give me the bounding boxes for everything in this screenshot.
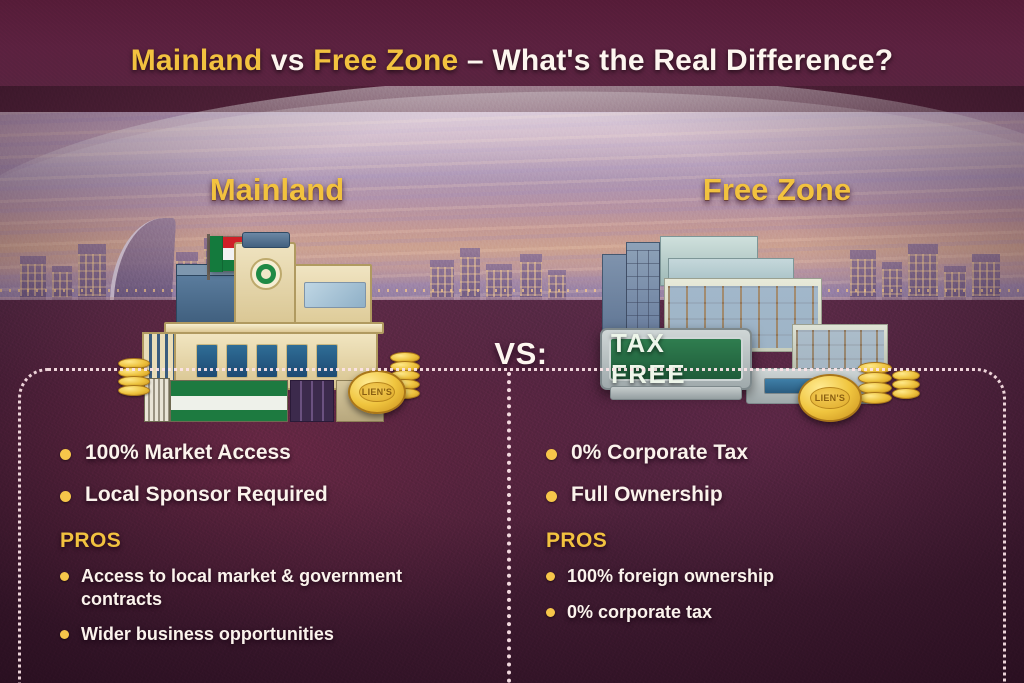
building-back-block	[176, 270, 236, 328]
highlight-text: 100% Market Access	[85, 440, 291, 466]
bullet-dot-icon	[60, 572, 69, 581]
bullet-dot-icon	[546, 491, 557, 502]
pros-heading: PROS	[546, 529, 966, 553]
pros-heading: PROS	[60, 529, 480, 553]
highlight-text: Full Ownership	[571, 482, 723, 508]
column-heading-free-zone: Free Zone	[612, 172, 942, 208]
column-heading-mainland: Mainland	[112, 172, 442, 208]
mainland-column: 100% Market Access Local Sponsor Require…	[60, 440, 480, 659]
highlight-text: Local Sponsor Required	[85, 482, 328, 508]
list-item: Local Sponsor Required	[60, 482, 480, 508]
pros-text: 0% corporate tax	[567, 601, 712, 624]
pros-text: Access to local market & government cont…	[81, 565, 480, 610]
bullet-dot-icon	[60, 449, 71, 460]
bullet-dot-icon	[546, 449, 557, 460]
infographic-canvas: Mainland vs Free Zone – What's the Real …	[0, 0, 1024, 683]
bullet-dot-icon	[60, 491, 71, 502]
list-item: 0% corporate tax	[546, 601, 966, 624]
column-divider	[507, 372, 511, 683]
bullet-dot-icon	[60, 630, 69, 639]
highlight-text: 0% Corporate Tax	[571, 440, 748, 466]
free-zone-column: 0% Corporate Tax Full Ownership PROS 100…	[546, 440, 966, 636]
list-item: 100% foreign ownership	[546, 565, 966, 588]
list-item: Access to local market & government cont…	[60, 565, 480, 610]
page-title: Mainland vs Free Zone – What's the Real …	[0, 44, 1024, 78]
list-item: Full Ownership	[546, 482, 966, 508]
list-item: 0% Corporate Tax	[546, 440, 966, 466]
title-part-mainland: Mainland	[131, 44, 263, 77]
title-part-free-zone: Free Zone	[313, 44, 458, 77]
wing-glass-panel	[304, 282, 366, 308]
vs-label: VS:	[466, 336, 576, 372]
pros-text: 100% foreign ownership	[567, 565, 774, 588]
list-item: Wider business opportunities	[60, 623, 480, 646]
bullet-dot-icon	[546, 572, 555, 581]
title-part-vs: vs	[262, 44, 313, 77]
emblem-circle-inner	[256, 264, 276, 284]
tower-roof	[242, 232, 290, 248]
title-part-question: – What's the Real Difference?	[458, 44, 893, 77]
bullet-dot-icon	[546, 608, 555, 617]
list-item: 100% Market Access	[60, 440, 480, 466]
flag-red-band	[210, 236, 223, 272]
pros-text: Wider business opportunities	[81, 623, 334, 646]
